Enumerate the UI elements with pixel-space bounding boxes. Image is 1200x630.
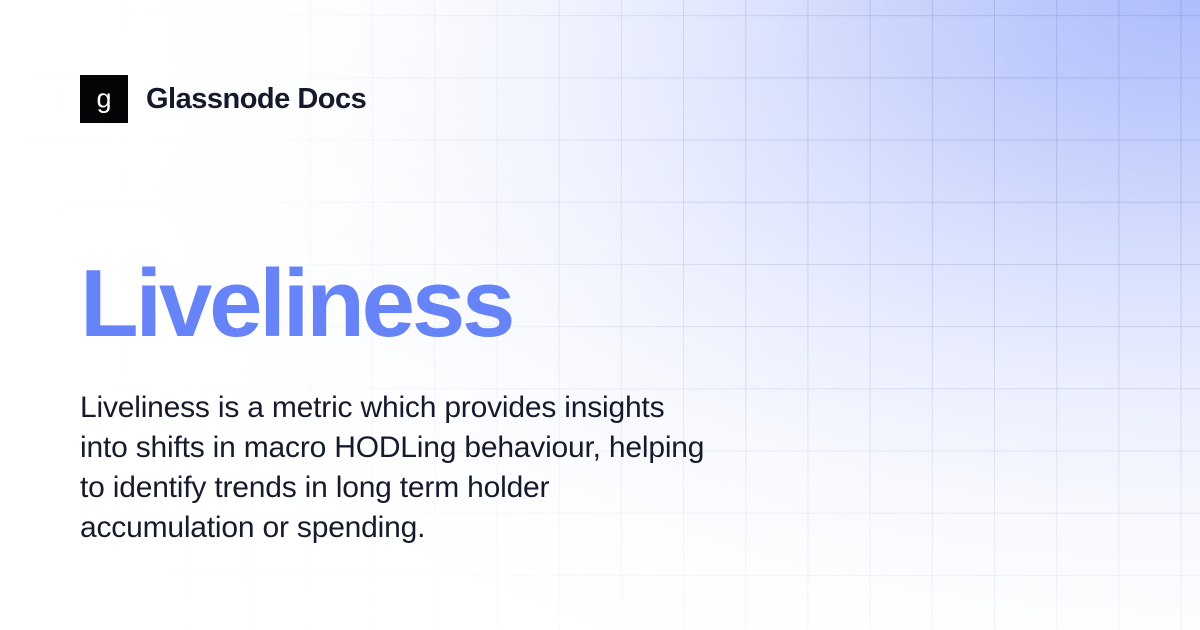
page-title: Liveliness xyxy=(80,256,512,352)
description-line: to identify trends in long term holder xyxy=(80,468,880,508)
svg-text:g: g xyxy=(96,84,111,114)
brand-header[interactable]: g Glassnode Docs xyxy=(80,75,366,123)
page-description: Liveliness is a metric which provides in… xyxy=(80,388,880,548)
description-line: Liveliness is a metric which provides in… xyxy=(80,388,880,428)
description-line: into shifts in macro HODLing behaviour, … xyxy=(80,428,880,468)
glassnode-g-logo-icon: g xyxy=(80,75,128,123)
description-line: accumulation or spending. xyxy=(80,508,880,548)
social-card-content: g Glassnode Docs Liveliness Liveliness i… xyxy=(0,0,1200,630)
brand-title: Glassnode Docs xyxy=(146,85,366,114)
